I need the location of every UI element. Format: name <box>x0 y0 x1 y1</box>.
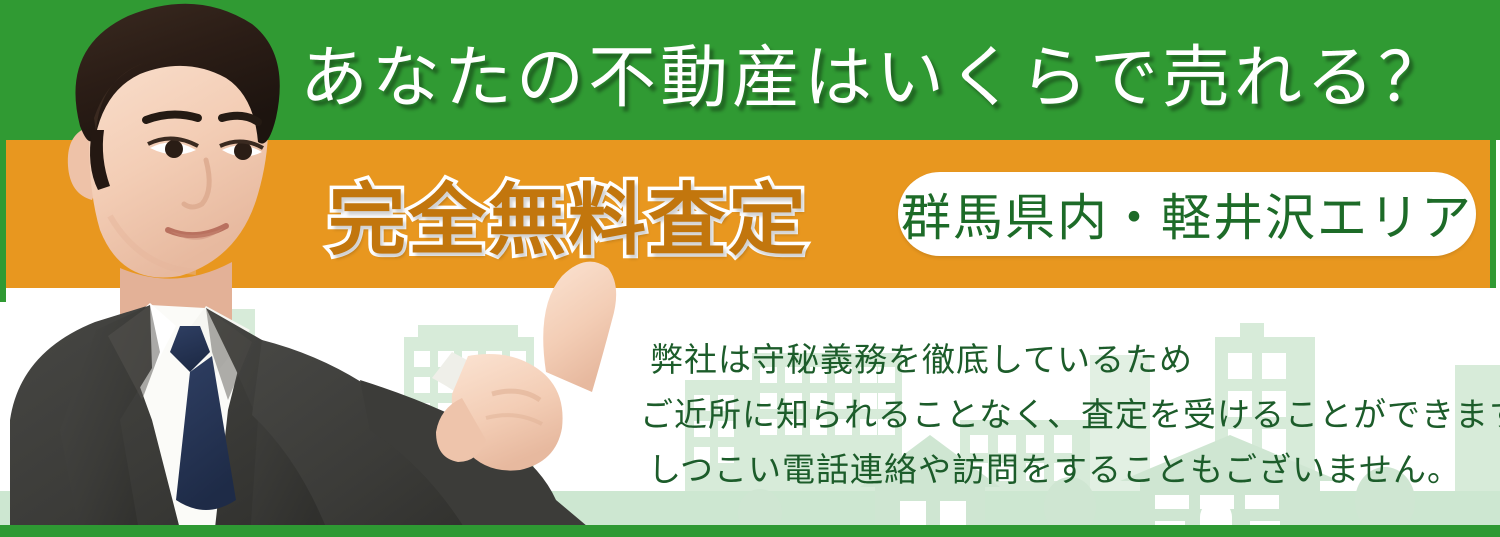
bottom-accent-bar <box>0 525 1500 537</box>
real-estate-appraisal-banner: あなたの不動産はいくらで売れる？ 完全無料査定 群馬県内・軽井沢エリア 弊社は守… <box>0 0 1500 537</box>
body-line-3: しつこい電話連絡や訪問をすることもございません。 <box>640 442 1490 497</box>
service-area-label: 群馬県内・軽井沢エリア <box>901 178 1473 250</box>
green-rail-right <box>1490 140 1496 288</box>
body-line-1: 弊社は守秘義務を徹底しているため <box>640 332 1490 387</box>
body-line-2: ご近所に知られることなく、査定を受けることができます。 <box>640 387 1490 442</box>
service-area-badge: 群馬県内・軽井沢エリア <box>898 172 1476 256</box>
body-copy: 弊社は守秘義務を徹底しているため ご近所に知られることなく、査定を受けることがで… <box>640 332 1490 497</box>
businessman-photo <box>0 0 640 537</box>
